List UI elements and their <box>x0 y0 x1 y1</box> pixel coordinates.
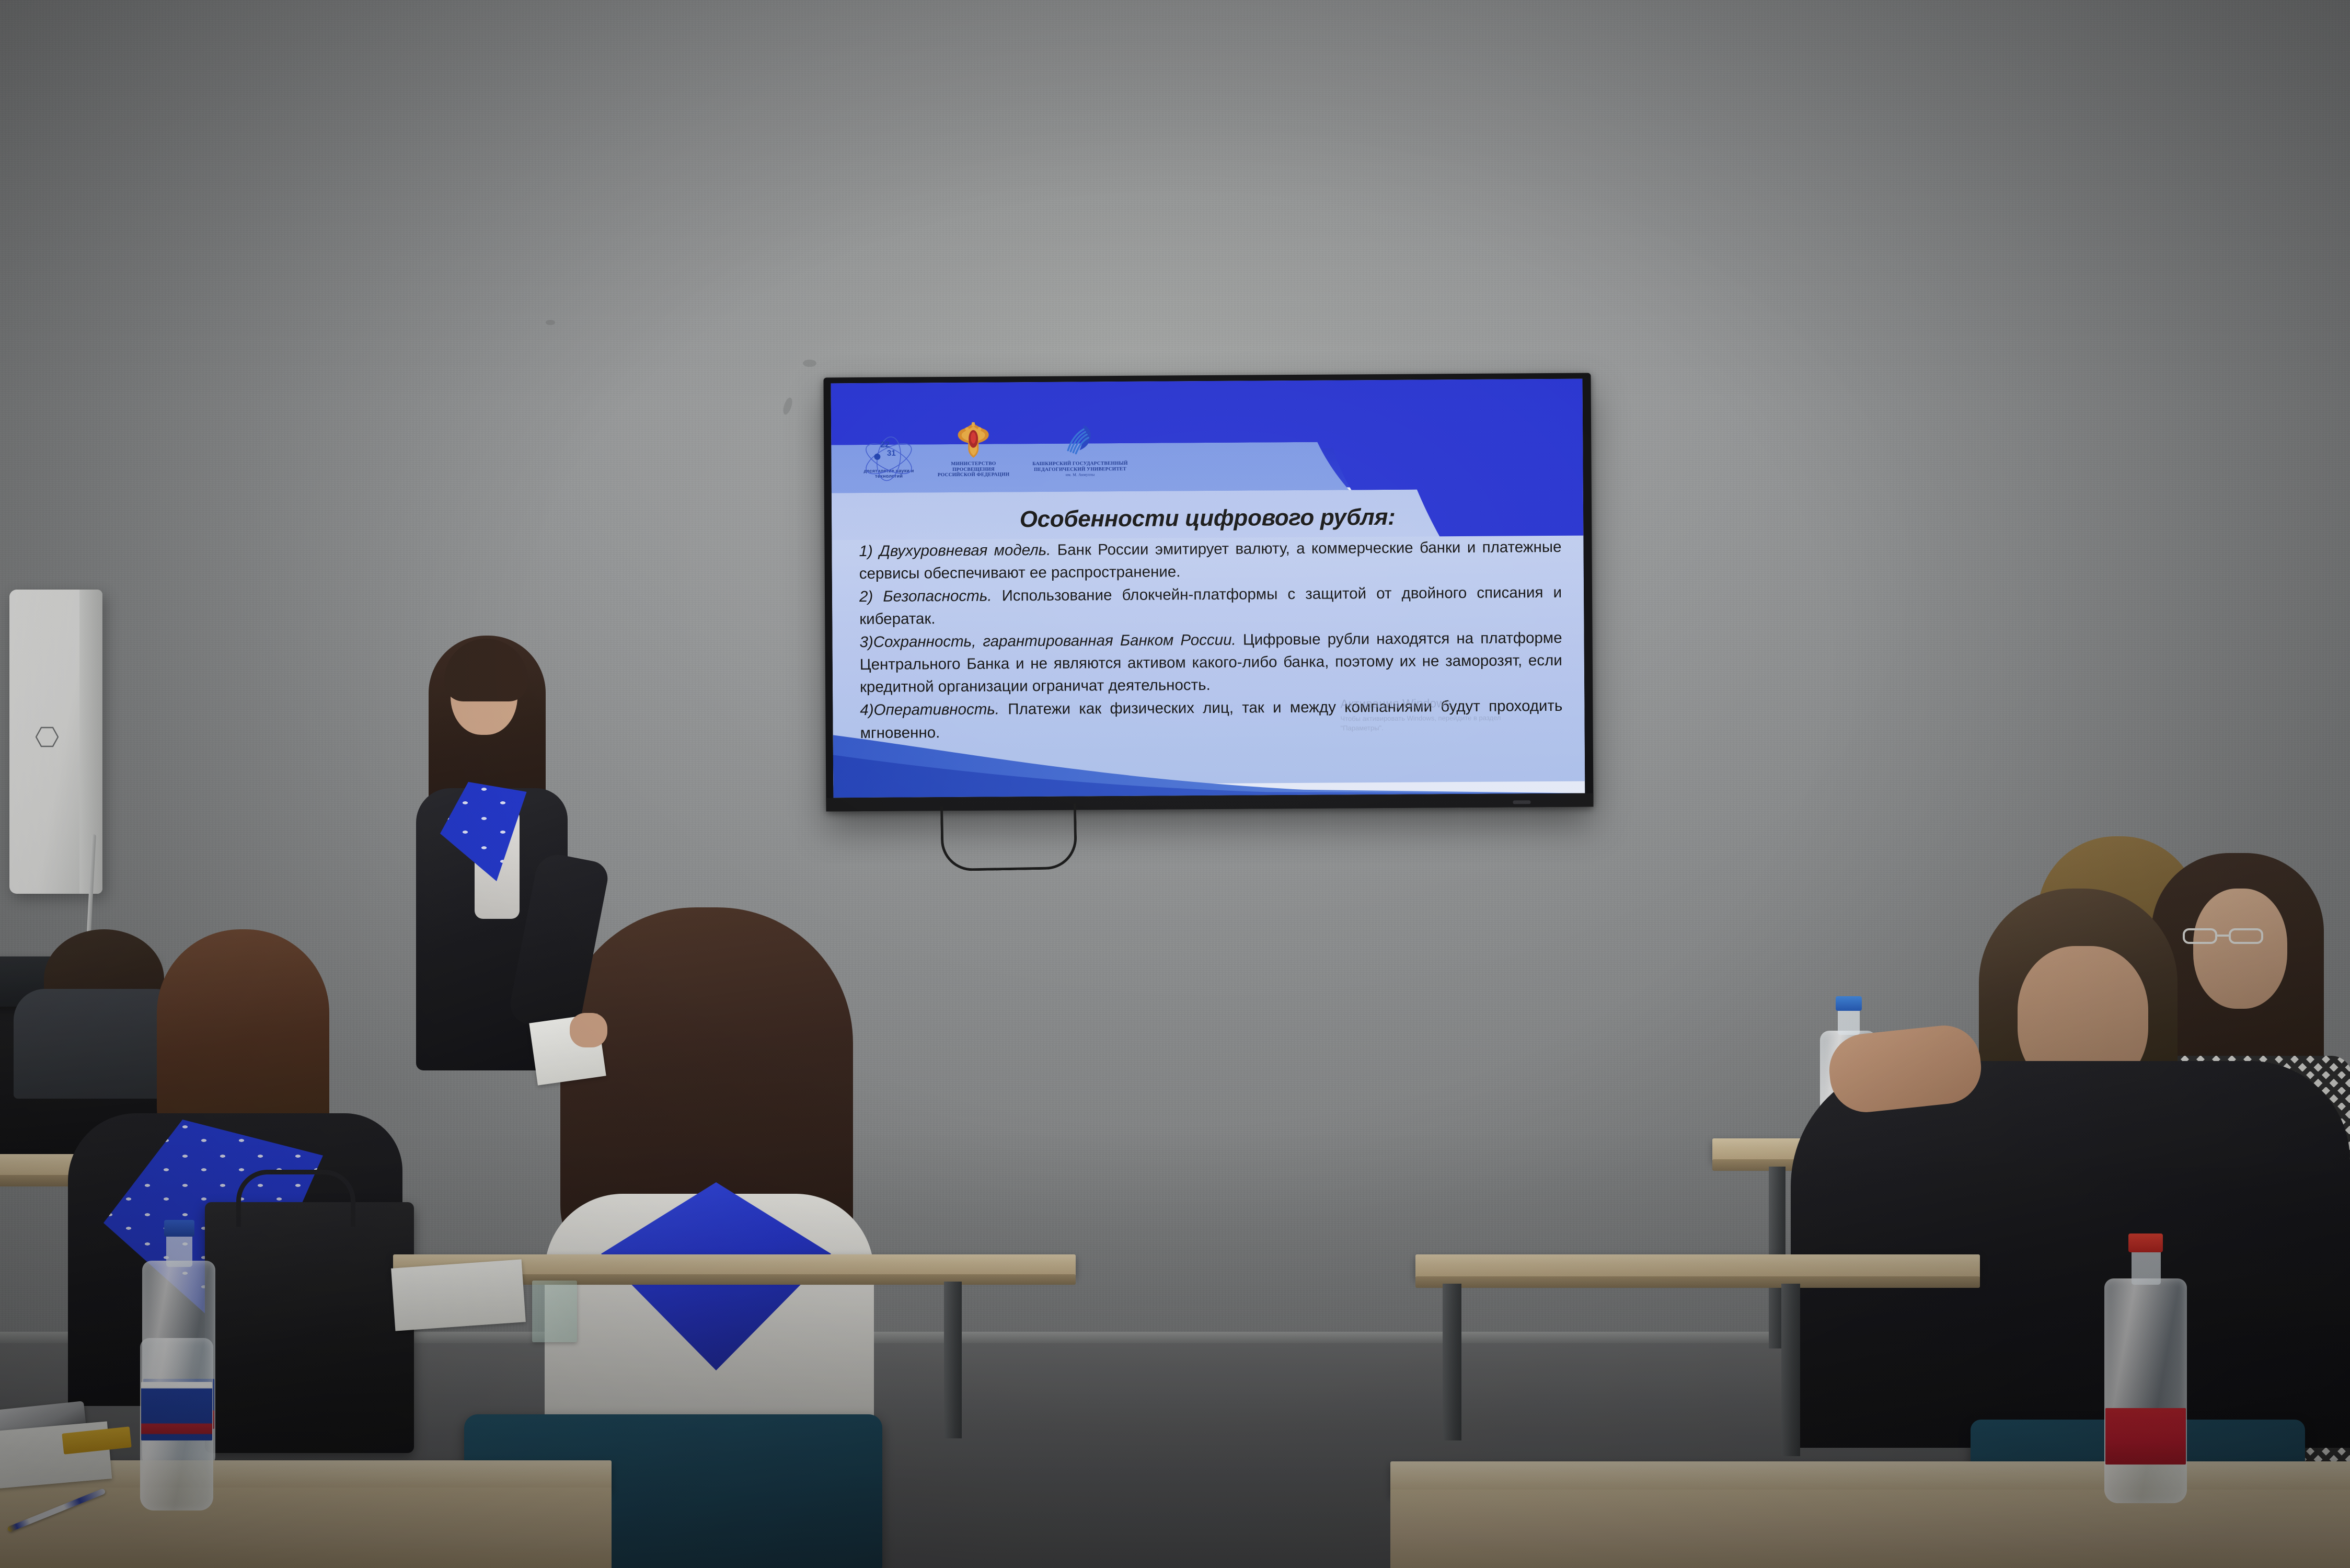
classroom-scene: 22 31 десятилетие науки и технологий <box>0 0 2350 1568</box>
photo-vignette <box>0 0 2350 1568</box>
